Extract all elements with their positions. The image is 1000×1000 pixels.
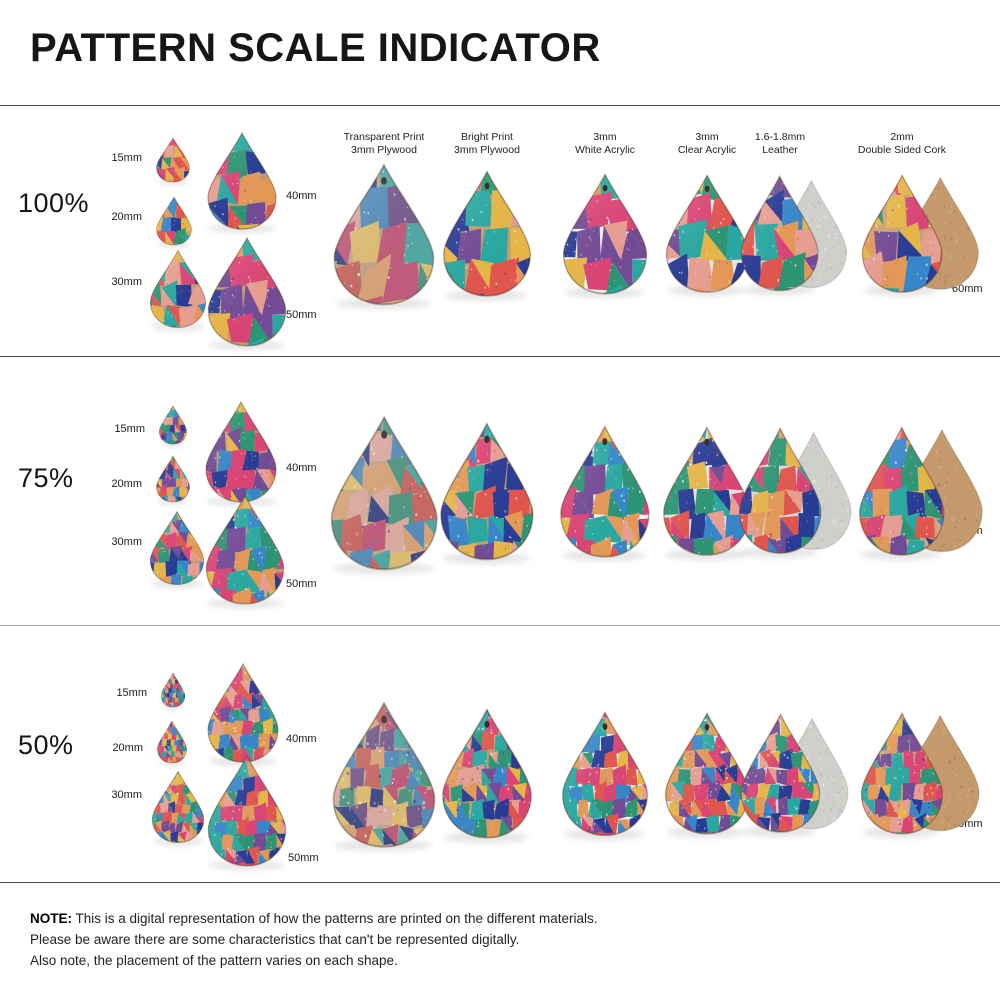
legend-size-label-50mm: 50mm bbox=[288, 852, 319, 864]
note-line-3: Also note, the placement of the pattern … bbox=[30, 950, 598, 971]
pattern-scale-indicator-page: PATTERN SCALE INDICATOR Transparent Prin… bbox=[0, 0, 1000, 1000]
material-teardrop-white-acrylic bbox=[559, 710, 651, 838]
legend-teardrop-15mm bbox=[160, 672, 186, 708]
note-line-1: NOTE: This is a digital representation o… bbox=[30, 908, 598, 929]
material-teardrop-transparent-print-plywood bbox=[330, 162, 438, 307]
material-teardrop-transparent-print-plywood bbox=[327, 414, 441, 572]
legend-teardrop-30mm bbox=[148, 249, 208, 329]
row-scale-label: 50% bbox=[18, 730, 74, 761]
material-teardrop-bright-print-plywood bbox=[437, 421, 537, 562]
material-teardrop-double-sided-cork bbox=[858, 711, 946, 836]
legend-teardrop-50mm bbox=[203, 494, 287, 606]
note-block: NOTE: This is a digital representation o… bbox=[30, 908, 598, 971]
material-teardrop-leather bbox=[736, 426, 824, 556]
legend-teardrop-40mm bbox=[205, 662, 281, 764]
material-teardrop-white-acrylic bbox=[560, 172, 650, 296]
legend-teardrop-40mm bbox=[203, 400, 279, 504]
material-teardrop-double-sided-cork bbox=[856, 425, 948, 557]
material-teardrop-bright-print-plywood bbox=[439, 707, 535, 840]
legend-size-label-15mm: 15mm bbox=[109, 687, 147, 699]
legend-teardrop-30mm bbox=[148, 510, 206, 586]
note-line-2: Please be aware there are some character… bbox=[30, 929, 598, 950]
material-teardrop-leather bbox=[738, 174, 821, 293]
legend-teardrop-15mm bbox=[158, 405, 188, 445]
note-prefix: NOTE: bbox=[30, 911, 72, 926]
legend-size-label-40mm: 40mm bbox=[286, 733, 317, 745]
note-line-1-text: This is a digital representation of how … bbox=[72, 911, 598, 926]
material-teardrop-white-acrylic bbox=[557, 424, 653, 559]
material-teardrop-transparent-print-plywood bbox=[329, 700, 439, 850]
legend-teardrop-20mm bbox=[155, 196, 193, 246]
material-teardrop-leather bbox=[738, 712, 823, 834]
legend-teardrop-30mm bbox=[150, 770, 206, 844]
legend-teardrop-20mm bbox=[155, 455, 191, 503]
legend-size-label-30mm: 30mm bbox=[104, 789, 142, 801]
legend-teardrop-20mm bbox=[156, 720, 188, 764]
legend-teardrop-50mm bbox=[205, 236, 289, 348]
legend-teardrop-15mm bbox=[155, 137, 191, 183]
legend-teardrop-40mm bbox=[205, 131, 279, 231]
legend-size-label-20mm: 20mm bbox=[105, 742, 143, 754]
material-teardrop-bright-print-plywood bbox=[440, 169, 534, 298]
material-teardrop-double-sided-cork bbox=[859, 173, 945, 294]
legend-teardrop-50mm bbox=[205, 754, 289, 868]
